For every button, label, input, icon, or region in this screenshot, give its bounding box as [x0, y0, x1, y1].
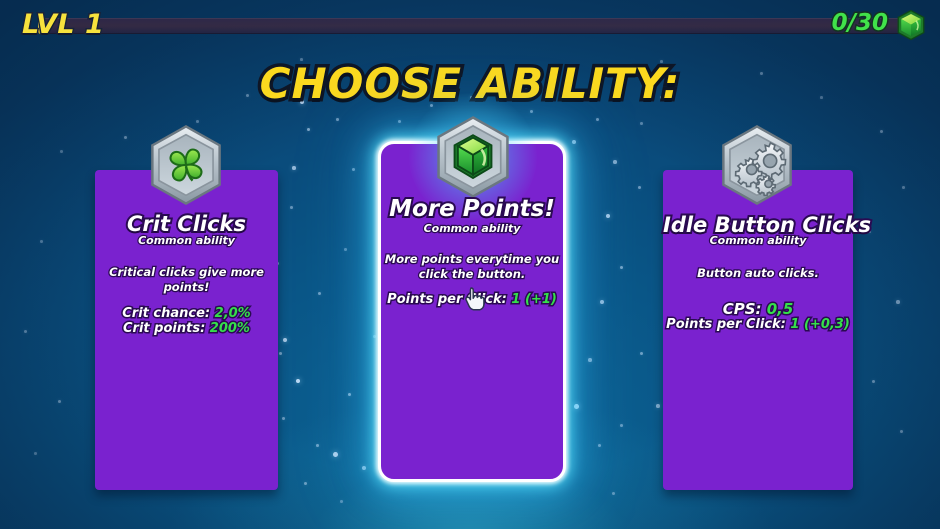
green-gem-cube-icon — [894, 8, 928, 42]
star-particle — [572, 140, 576, 144]
game-screen: LVL 1 0/30 CHOOSE ABILITY: — [0, 0, 940, 529]
star-particle — [638, 186, 641, 189]
card-title-more-points: More Points! — [378, 196, 566, 222]
gears-icon — [716, 124, 798, 206]
star-particle — [612, 492, 615, 495]
star-particle — [318, 292, 321, 295]
card-description-crit-clicks: Critical clicks give more points! — [95, 265, 278, 295]
star-particle — [600, 300, 604, 304]
star-particle — [348, 393, 351, 396]
star-particle — [304, 482, 307, 485]
star-particle — [620, 266, 623, 269]
stat-label: Crit chance: — [122, 306, 210, 321]
star-particle — [333, 452, 338, 457]
star-particle — [24, 330, 27, 333]
star-particle — [282, 417, 285, 420]
star-particle — [902, 186, 905, 189]
star-particle — [656, 404, 660, 408]
star-particle — [896, 300, 900, 304]
card-stat-points-per-click: Points per Click: 1 (+0,3) — [663, 317, 853, 332]
stat-value: 2,0% — [215, 306, 251, 321]
star-particle — [352, 168, 355, 171]
star-particle — [613, 160, 617, 164]
stat-label: Crit points: — [123, 321, 205, 336]
star-particle — [336, 118, 339, 121]
clover-icon — [145, 124, 227, 206]
stat-value: 1 (+1) — [511, 292, 556, 307]
gem-counter-label: 0/30 — [832, 10, 888, 36]
star-particle — [296, 379, 300, 383]
star-particle — [124, 136, 127, 139]
xp-progress-bar — [38, 18, 902, 34]
star-particle — [530, 110, 533, 113]
stat-value: 200% — [210, 321, 250, 336]
star-particle — [398, 120, 401, 123]
stat-label: Points per Click: — [387, 292, 507, 307]
card-description-more-points: More points everytime you click the butt… — [378, 252, 566, 282]
star-particle — [373, 335, 376, 338]
card-title-crit-clicks: Crit Clicks — [95, 212, 278, 236]
level-label: LVL 1 — [22, 9, 104, 40]
star-particle — [196, 120, 199, 123]
star-particle — [880, 130, 883, 133]
stat-label: Points per Click: — [666, 317, 786, 332]
star-particle — [279, 352, 282, 355]
star-particle — [598, 444, 601, 447]
star-particle — [640, 122, 643, 125]
star-particle — [606, 214, 610, 218]
star-particle — [34, 452, 37, 455]
star-particle — [588, 358, 592, 362]
star-particle — [574, 404, 579, 409]
stat-label: CPS: — [723, 300, 762, 318]
card-subtitle-idle-button-clicks: Common ability — [663, 234, 853, 247]
stat-value: 1 (+0,3) — [790, 317, 849, 332]
stat-value: 0,5 — [767, 300, 794, 318]
star-particle — [344, 248, 347, 251]
gem-cube-icon — [431, 115, 515, 199]
card-subtitle-more-points: Common ability — [378, 222, 566, 235]
star-particle — [40, 240, 43, 243]
hud-topbar: LVL 1 0/30 — [0, 0, 940, 52]
star-particle — [872, 380, 875, 383]
card-stat-crit-points: Crit points: 200% — [95, 321, 278, 336]
star-particle — [316, 444, 319, 447]
card-stat-points-per-click: Points per Click: 1 (+1) — [378, 292, 566, 307]
star-particle — [292, 166, 296, 170]
card-subtitle-crit-clicks: Common ability — [95, 234, 278, 247]
star-particle — [340, 500, 343, 503]
star-particle — [596, 118, 599, 121]
star-particle — [640, 352, 643, 355]
card-description-idle-button-clicks: Button auto clicks. — [663, 266, 853, 281]
star-particle — [307, 128, 310, 131]
star-particle — [900, 430, 903, 433]
star-particle — [60, 150, 63, 153]
star-particle — [620, 424, 623, 427]
card-stat-crit-chance: Crit chance: 2,0% — [95, 306, 278, 321]
star-particle — [58, 400, 61, 403]
page-title: CHOOSE ABILITY: — [0, 59, 940, 108]
card-stat-cps: CPS: 0,5 — [663, 300, 853, 318]
star-particle — [362, 466, 366, 470]
star-particle — [290, 206, 293, 209]
star-particle — [283, 338, 287, 342]
